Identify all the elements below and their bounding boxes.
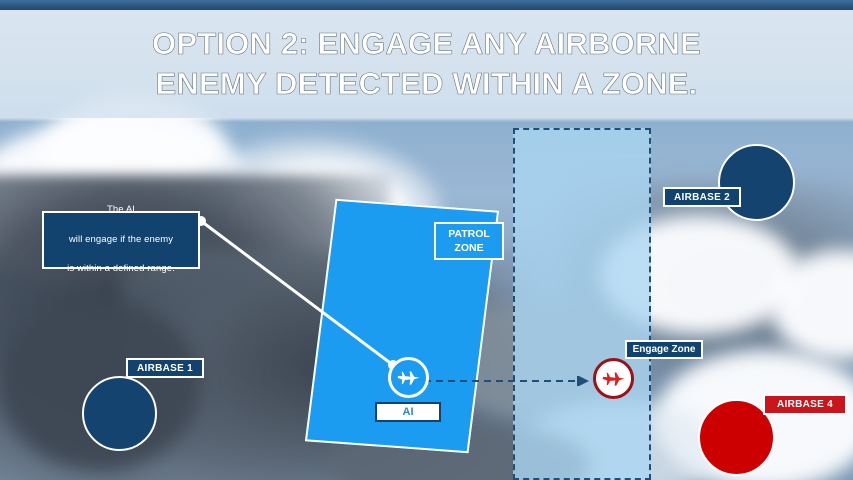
airbase-2-label[interactable]: AIRBASE 2 — [663, 187, 741, 207]
engagement-arrow — [424, 376, 596, 386]
airbase-4-label[interactable]: AIRBASE 4 — [763, 394, 847, 415]
fighter-jet-icon — [395, 364, 423, 392]
enemy-aircraft-marker[interactable] — [593, 358, 634, 399]
slide-canvas: OPTION 2: ENGAGE ANY AIRBORNE ENEMY DETE… — [0, 0, 853, 480]
airbase-1-marker[interactable] — [82, 376, 157, 451]
engage-zone-area[interactable] — [513, 128, 651, 480]
callout-line-1: The AI — [67, 203, 175, 218]
title-line-2: ENEMY DETECTED WITHIN A ZONE. — [0, 64, 853, 104]
title-band-underline — [0, 118, 853, 122]
airbase-2-marker[interactable] — [718, 144, 795, 221]
ai-unit-label[interactable]: AI — [375, 402, 441, 422]
page-title: OPTION 2: ENGAGE ANY AIRBORNE ENEMY DETE… — [0, 24, 853, 105]
callout-line-3: is within a defined range. — [67, 262, 175, 277]
airbase-1-label[interactable]: AIRBASE 1 — [126, 358, 204, 378]
top-accent-bar — [0, 0, 853, 10]
callout-pointer-line — [195, 215, 405, 375]
fighter-jet-icon — [600, 365, 628, 393]
patrol-zone-label[interactable]: PATROL ZONE — [434, 222, 504, 260]
engage-zone-label[interactable]: Engage Zone — [625, 340, 703, 359]
title-line-1: OPTION 2: ENGAGE ANY AIRBORNE — [0, 24, 853, 64]
callout-line-2: will engage if the enemy — [67, 233, 175, 248]
ai-aircraft-marker[interactable] — [388, 357, 429, 398]
callout-box: The AI will engage if the enemy is withi… — [42, 211, 200, 269]
